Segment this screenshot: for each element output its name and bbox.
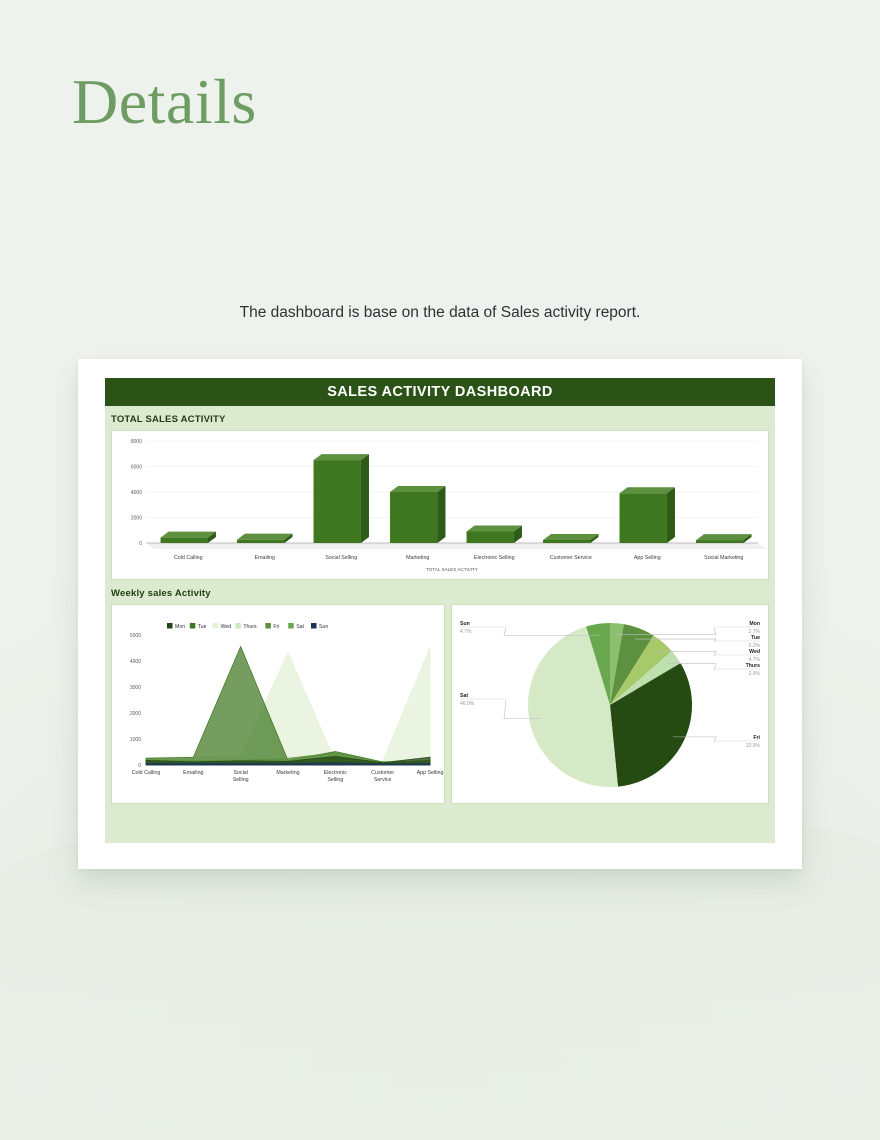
svg-text:0: 0 [138,763,141,769]
svg-text:2000: 2000 [131,516,142,522]
weekly-sales-area-chart: MonTueWedThursFriSatSun01000200030004000… [112,605,444,801]
svg-text:Customer Service: Customer Service [550,555,592,561]
bar-chart-panel: 02000400060008000Cold CallingEmailingSoc… [111,430,769,580]
total-sales-bar-chart: 02000400060008000Cold CallingEmailingSoc… [112,431,768,577]
dashboard-title: SALES ACTIVITY DASHBOARD [327,384,553,400]
svg-text:Social Selling: Social Selling [325,555,357,561]
svg-text:Sun: Sun [460,621,470,627]
svg-text:6000: 6000 [131,465,142,471]
svg-text:Fri: Fri [753,735,760,741]
svg-text:Sat: Sat [460,693,468,699]
charts-row: MonTueWedThursFriSatSun01000200030004000… [111,604,769,804]
line-chart-panel: MonTueWedThursFriSatSun01000200030004000… [111,604,445,804]
weekly-sales-pie-chart: Mon2.7%Tue6.2%Wed4.7%Thurs2.9%Fri32.0%Sa… [452,605,768,801]
page-title: Details [72,66,257,138]
svg-text:2.9%: 2.9% [749,671,761,677]
svg-text:Wed: Wed [749,649,760,655]
svg-text:Emailing: Emailing [255,555,275,561]
sales-activity-dashboard: SALES ACTIVITY DASHBOARD TOTAL SALES ACT… [105,378,775,843]
svg-text:0: 0 [139,541,142,547]
svg-text:4000: 4000 [130,659,141,665]
svg-text:Selling: Selling [233,777,249,783]
svg-text:Selling: Selling [327,777,343,783]
svg-text:Service: Service [374,777,392,783]
svg-text:Emailing: Emailing [183,770,203,776]
svg-text:Social Marketing: Social Marketing [704,555,743,561]
svg-text:46.9%: 46.9% [460,701,475,707]
svg-text:8000: 8000 [131,439,142,445]
svg-text:Tue: Tue [198,624,207,630]
svg-text:4.7%: 4.7% [460,629,472,635]
pie-chart-panel: Mon2.7%Tue6.2%Wed4.7%Thurs2.9%Fri32.0%Sa… [451,604,769,804]
svg-text:Mon: Mon [749,621,760,627]
svg-text:Thurs: Thurs [746,663,761,669]
svg-text:1000: 1000 [130,737,141,743]
svg-text:Cold Calling: Cold Calling [132,770,161,776]
section-title-weekly-sales: Weekly sales Activity [105,580,775,604]
svg-text:Mon: Mon [175,624,185,630]
svg-text:Sun: Sun [319,624,328,630]
svg-text:Marketing: Marketing [276,770,299,776]
dashboard-header: SALES ACTIVITY DASHBOARD [105,378,775,406]
svg-text:Wed: Wed [221,624,232,630]
svg-text:Marketing: Marketing [406,555,429,561]
intro-text: The dashboard is base on the data of Sal… [0,304,880,322]
svg-text:Cold Calling: Cold Calling [174,555,203,561]
svg-text:App Selling: App Selling [417,770,444,776]
svg-text:5000: 5000 [130,633,141,639]
svg-text:4000: 4000 [131,490,142,496]
svg-text:Customer: Customer [371,770,394,776]
svg-text:2000: 2000 [130,711,141,717]
svg-text:3000: 3000 [130,685,141,691]
svg-text:Fri: Fri [273,624,279,630]
svg-text:32.0%: 32.0% [746,743,761,749]
svg-text:Tue: Tue [751,635,760,641]
section-title-total-sales: TOTAL SALES ACTIVITY [105,406,775,430]
svg-text:TOTAL SALES ACTIVITY: TOTAL SALES ACTIVITY [426,567,478,572]
svg-text:Social: Social [233,770,247,776]
svg-text:Electronic Selling: Electronic Selling [474,555,515,561]
svg-text:Electronic: Electronic [324,770,348,776]
svg-text:App Selling: App Selling [634,555,661,561]
svg-text:Sat: Sat [296,624,304,630]
svg-text:Thurs: Thurs [243,624,257,630]
